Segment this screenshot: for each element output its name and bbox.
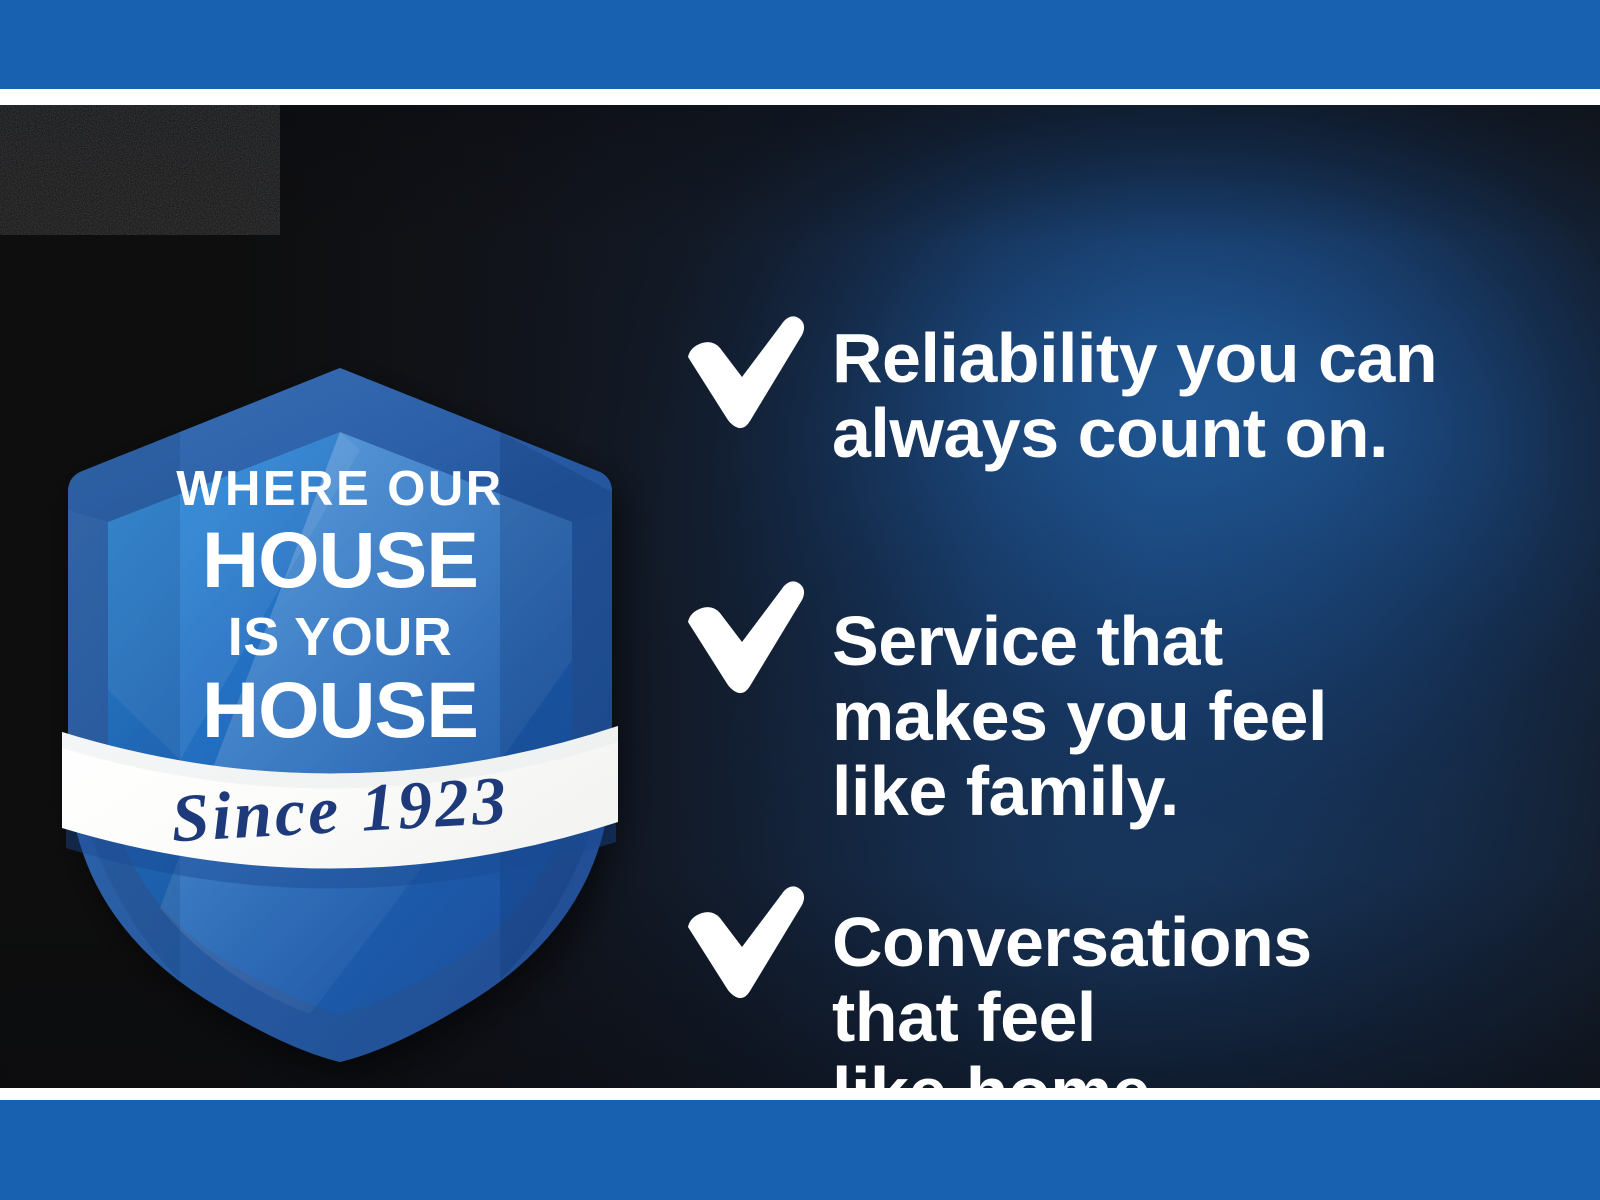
list-item: Reliability you can always count on.	[680, 315, 1437, 471]
badge-line-2: HOUSE	[60, 520, 620, 599]
promo-graphic: WHERE OUR HOUSE IS YOUR HOUSE Since 1923…	[0, 0, 1600, 1200]
top-brand-bar	[0, 0, 1600, 89]
shield-badge: WHERE OUR HOUSE IS YOUR HOUSE Since 1923	[60, 360, 620, 1060]
badge-line-1: WHERE OUR	[60, 465, 620, 514]
main-panel: WHERE OUR HOUSE IS YOUR HOUSE Since 1923…	[0, 105, 1600, 1088]
list-item: Service that makes you feel like family.	[680, 580, 1327, 829]
list-item-label: Service that makes you feel like family.	[832, 580, 1327, 829]
check-icon	[680, 885, 810, 1005]
badge-line-3: IS YOUR	[60, 610, 620, 664]
list-item-label: Conversations that feel like home.	[832, 885, 1312, 1088]
badge-line-4: HOUSE	[60, 670, 620, 749]
bottom-brand-bar	[0, 1100, 1600, 1200]
check-icon	[680, 580, 810, 700]
list-item-label: Reliability you can always count on.	[832, 315, 1437, 471]
check-icon	[680, 315, 810, 435]
list-item: Conversations that feel like home.	[680, 885, 1312, 1088]
